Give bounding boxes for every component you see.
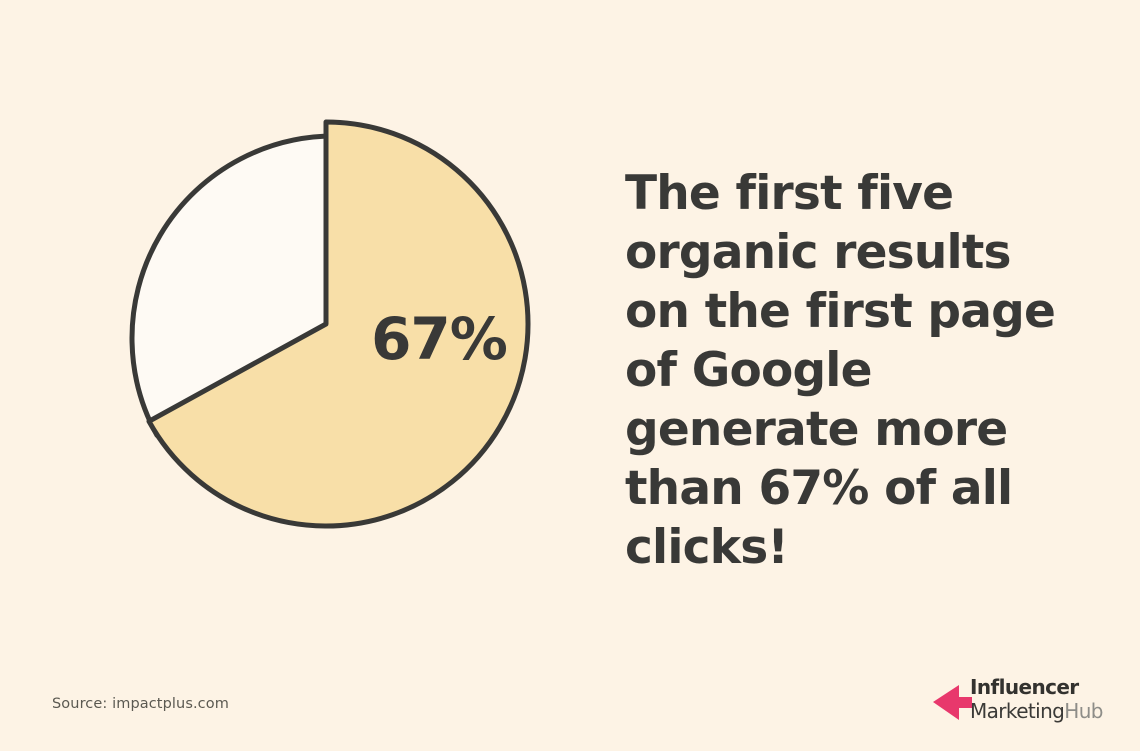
infographic-canvas: 67% The first five organic results on th… bbox=[0, 0, 1140, 751]
brand-logo-hub: Hub bbox=[1064, 699, 1103, 723]
source-attribution: Source: impactplus.com bbox=[52, 696, 229, 712]
pie-slice-value-label: 67% bbox=[371, 305, 507, 373]
brand-logo[interactable]: Influencer MarketingHub bbox=[932, 676, 1092, 732]
pie-chart: 67% bbox=[90, 80, 590, 600]
headline-text: The first five organic results on the fi… bbox=[625, 164, 1065, 577]
brand-logo-line-1: Influencer bbox=[970, 676, 1094, 699]
brand-logo-text: Influencer MarketingHub bbox=[970, 676, 1094, 723]
brand-logo-line-2: MarketingHub bbox=[970, 699, 1094, 723]
brand-logo-marketing: Marketing bbox=[970, 699, 1064, 723]
pie-chart-svg: 67% bbox=[90, 80, 590, 600]
